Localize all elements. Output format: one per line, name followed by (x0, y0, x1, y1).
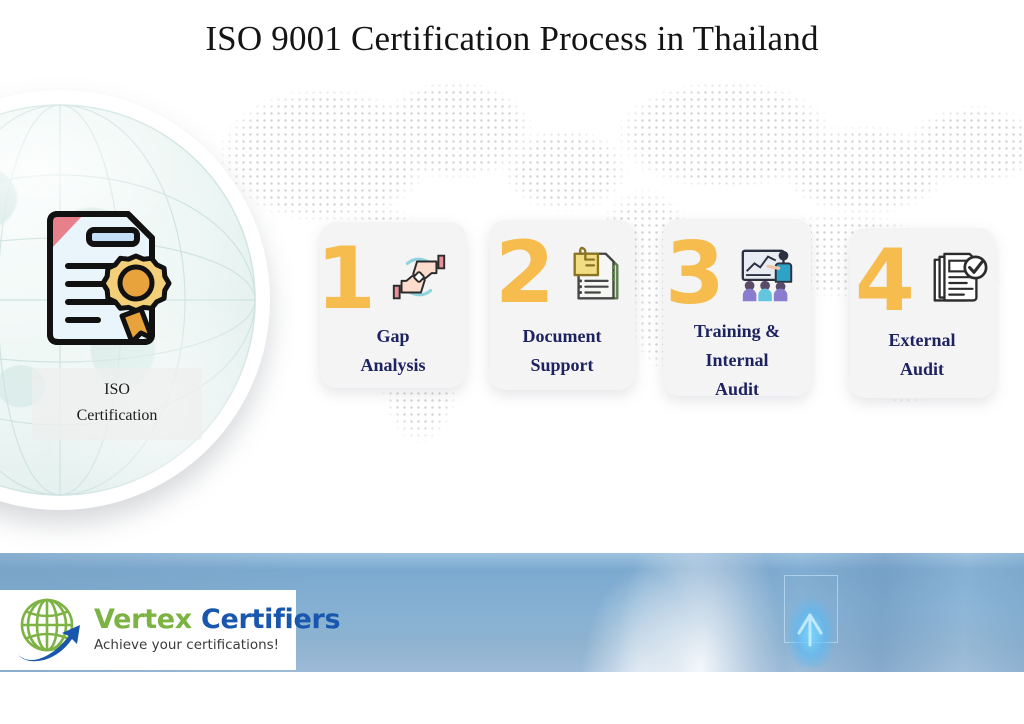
training-presentation-icon (737, 245, 799, 307)
brand-word-2: Certifiers (201, 604, 340, 635)
step-label-3-line1: Training & (663, 317, 811, 346)
step-card-1[interactable]: 1 Gap Analysis (320, 222, 466, 388)
step-label-1: Gap Analysis (320, 322, 466, 380)
content-area: ISO Certification 1 Gap Analysis (0, 70, 1024, 553)
infographic-canvas: ISO 9001 Certification Process in Thaila… (0, 0, 1024, 724)
brand-tagline: Achieve your certifications! (94, 636, 340, 654)
globe-arrow-logo-icon (14, 597, 88, 663)
documents-check-icon (927, 252, 989, 314)
brand-name: Vertex Certifiers (94, 605, 340, 635)
document-support-icon (565, 246, 627, 308)
iso-certification-badge: ISO Certification (32, 368, 202, 440)
step-label-2-line2: Support (489, 351, 635, 380)
brand-word-1: Vertex (94, 604, 192, 635)
step-card-3[interactable]: 3 (663, 219, 811, 396)
step-label-4: External Audit (849, 326, 995, 384)
brand-text: Vertex Certifiers Achieve your certifica… (94, 605, 340, 654)
step-label-1-line1: Gap (320, 322, 466, 351)
step-label-3: Training & Internal Audit (663, 317, 811, 404)
step-label-3-line2: Internal (663, 346, 811, 375)
step-card-2[interactable]: 2 (489, 220, 635, 390)
step-label-3-line3: Audit (663, 375, 811, 404)
brand-logo[interactable]: Vertex Certifiers Achieve your certifica… (0, 590, 296, 670)
certificate-document-icon (40, 208, 172, 348)
step-number-3: 3 (665, 231, 725, 317)
glowing-arrow-icon (796, 613, 824, 647)
iso-badge-line2: Certification (38, 403, 196, 429)
step-number-1: 1 (316, 236, 376, 322)
step-label-4-line2: Audit (849, 355, 995, 384)
iso-badge-line1: ISO (38, 377, 196, 403)
globe-graphic: ISO Certification (0, 90, 270, 510)
step-number-2: 2 (495, 230, 555, 316)
step-number-4: 4 (855, 238, 915, 324)
step-label-1-line2: Analysis (320, 351, 466, 380)
page-title: ISO 9001 Certification Process in Thaila… (0, 17, 1024, 61)
handshake-gap-icon (388, 246, 450, 308)
step-card-4[interactable]: 4 External Audit (849, 228, 995, 398)
step-label-2: Document Support (489, 322, 635, 380)
step-label-4-line1: External (849, 326, 995, 355)
step-label-2-line1: Document (489, 322, 635, 351)
